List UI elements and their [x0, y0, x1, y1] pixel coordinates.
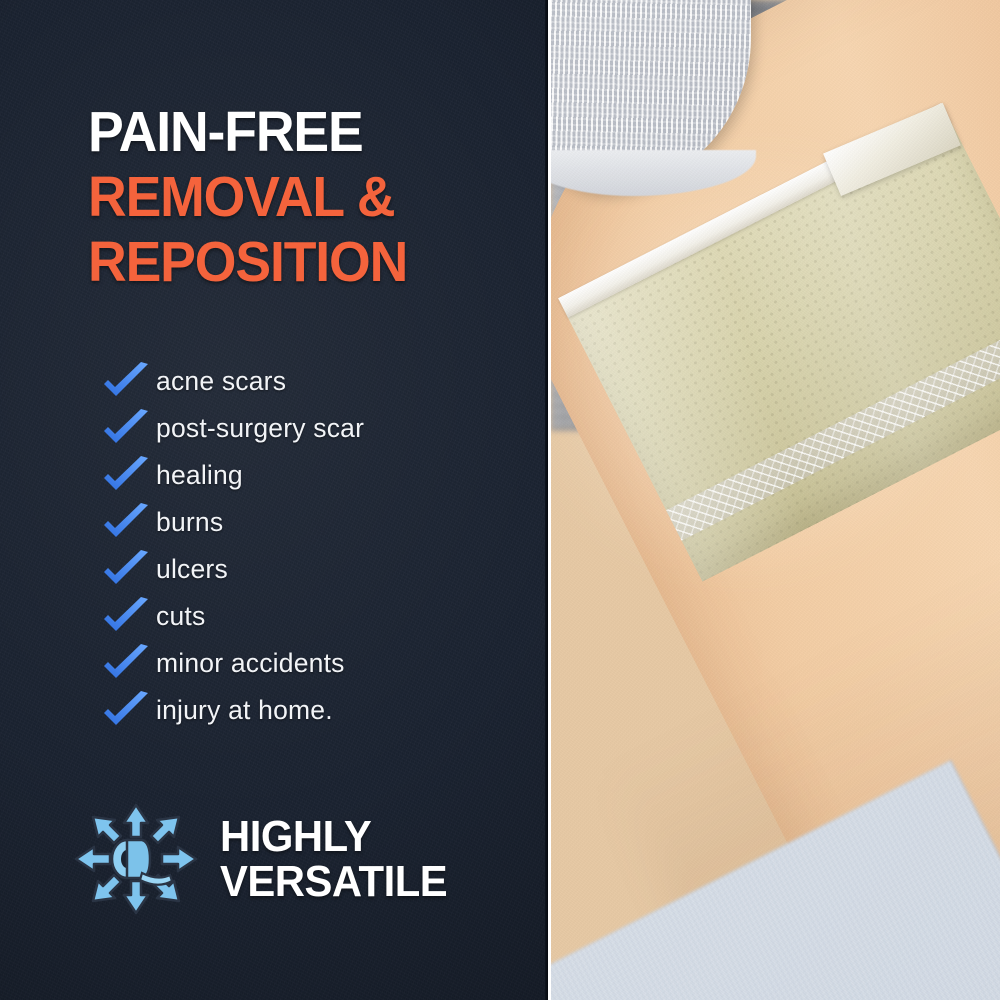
badge-line-2: VERSATILE	[220, 859, 447, 904]
check-icon	[100, 550, 152, 590]
list-item-label: healing	[156, 460, 243, 491]
list-item-label: post-surgery scar	[156, 413, 364, 444]
product-application-photo	[551, 0, 1000, 1000]
list-item: healing	[100, 452, 540, 499]
check-icon	[100, 644, 152, 684]
highly-versatile-badge: HIGHLY VERSATILE	[72, 800, 512, 918]
panel-divider	[545, 0, 548, 1000]
check-icon	[100, 409, 152, 449]
check-icon	[100, 362, 152, 402]
list-item-label: ulcers	[156, 554, 228, 585]
list-item: cuts	[100, 593, 540, 640]
list-item: post-surgery scar	[100, 405, 540, 452]
benefits-check-list: acne scars post-surgery scar healing bur…	[100, 358, 540, 734]
headline-line-1: PAIN-FREE	[88, 104, 511, 161]
list-item-label: burns	[156, 507, 223, 538]
headline-block: PAIN-FREE REMOVAL & REPOSITION	[88, 104, 538, 299]
check-icon	[100, 456, 152, 496]
list-item: minor accidents	[100, 640, 540, 687]
list-item: acne scars	[100, 358, 540, 405]
badge-line-1: HIGHLY	[220, 814, 447, 859]
list-item-label: acne scars	[156, 366, 286, 397]
tape-roll-multidirectional-arrows-icon	[72, 801, 200, 917]
check-icon	[100, 691, 152, 731]
list-item: injury at home.	[100, 687, 540, 734]
list-item-label: minor accidents	[156, 648, 345, 679]
badge-text-block: HIGHLY VERSATILE	[220, 814, 459, 904]
list-item-label: injury at home.	[156, 695, 333, 726]
list-item: burns	[100, 499, 540, 546]
headline-line-3: REPOSITION	[88, 234, 511, 291]
left-info-panel: PAIN-FREE REMOVAL & REPOSITION acne scar…	[0, 0, 548, 1000]
list-item: ulcers	[100, 546, 540, 593]
check-icon	[100, 503, 152, 543]
check-icon	[100, 597, 152, 637]
list-item-label: cuts	[156, 601, 205, 632]
product-marketing-image: PAIN-FREE REMOVAL & REPOSITION acne scar…	[0, 0, 1000, 1000]
headline-line-2: REMOVAL &	[88, 169, 511, 226]
